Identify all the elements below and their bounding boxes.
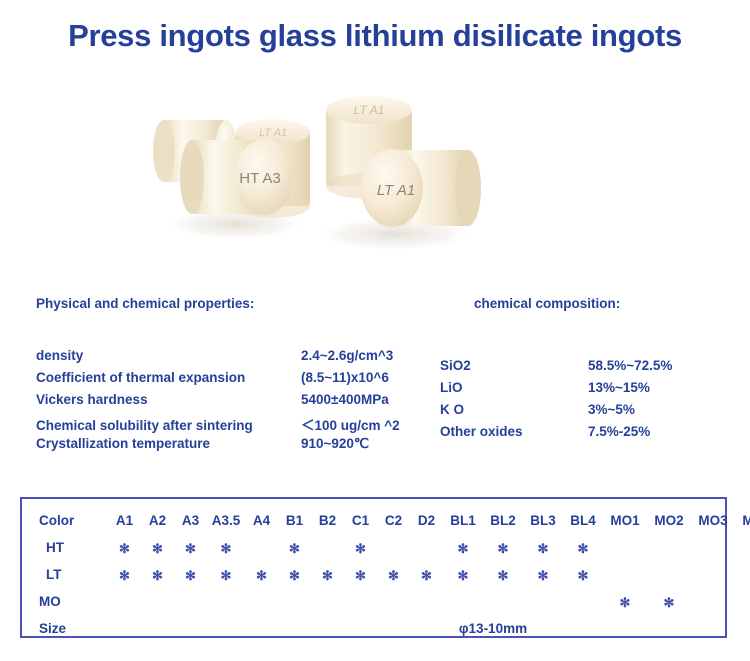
cell-mo-bl2 [483,588,523,615]
spec-label: SiO2 [440,358,588,373]
cell-mo-bl1 [443,588,483,615]
spec-label: Other oxides [440,424,588,439]
spec-row: SiO2 58.5%~72.5% [440,358,672,380]
table-header-row: ColorA1A2A3A3.5A4B1B2C1C2D2BL1BL2BL3BL4M… [22,507,750,534]
cell-mo-d2 [410,588,443,615]
cell-ht-d2 [410,534,443,561]
spec-label: Crystallization temperature [36,436,301,451]
cell-mo-a2 [141,588,174,615]
column-header-mo3: MO3 [691,507,735,534]
cell-ht-mo1 [603,534,647,561]
column-header-mo4: MO4 [735,507,750,534]
asterisk-mark-icon: ✻ [578,542,589,555]
cell-lt-a3: ✻ [174,561,207,588]
color-availability-table: ColorA1A2A3A3.5A4B1B2C1C2D2BL1BL2BL3BL4M… [20,497,727,638]
chemical-composition-block: chemical composition: SiO2 58.5%~72.5% L… [474,296,620,311]
spec-row: Vickers hardness 5400±400MPa [36,392,400,414]
column-header-a2: A2 [141,507,174,534]
asterisk-mark-icon: ✻ [578,569,589,582]
spec-value: 58.5%~72.5% [588,358,672,373]
cell-ht-c2 [377,534,410,561]
spec-value: 3%~5% [588,402,635,417]
cell-ht-b1: ✻ [278,534,311,561]
asterisk-mark-icon: ✻ [256,569,267,582]
ingot-label-lt-a1: LT A1 [377,182,415,199]
asterisk-mark-icon: ✻ [322,569,333,582]
color-grid: ColorA1A2A3A3.5A4B1B2C1C2D2BL1BL2BL3BL4M… [22,507,750,642]
table-row: HT✻✻✻✻✻✻✻✻✻✻ [22,534,750,561]
cell-ht-mo4 [735,534,750,561]
cell-ht-bl2: ✻ [483,534,523,561]
cell-lt-mo3 [691,561,735,588]
column-header-color: Color [22,507,108,534]
product-photo: LT A1 LT A1 HT A3 LT A1 [140,88,500,268]
column-header-mo1: MO1 [603,507,647,534]
cell-lt-mo2 [647,561,691,588]
ingot-label-ht-a3: HT A3 [239,170,280,187]
asterisk-mark-icon: ✻ [458,569,469,582]
column-header-a3-5: A3.5 [207,507,245,534]
spec-value: 7.5%-25% [588,424,650,439]
chemical-composition-heading: chemical composition: [474,296,620,311]
cell-mo-bl3 [523,588,563,615]
cell-mo-mo3 [691,588,735,615]
cell-ht-bl1: ✻ [443,534,483,561]
spec-value: ＜100 ug/cm ^2 [301,414,400,434]
cell-ht-c1: ✻ [344,534,377,561]
physical-properties-list: density 2.4~2.6g/cm^3 Coefficient of the… [36,348,400,458]
table-row-size: Sizeφ13-10mm [22,615,750,642]
asterisk-mark-icon: ✻ [221,569,232,582]
cell-ht-bl4: ✻ [563,534,603,561]
cell-mo-a1 [108,588,141,615]
cell-mo-c1 [344,588,377,615]
spec-row: Chemical solubility after sintering ＜100… [36,414,400,436]
cell-mo-a3-5 [207,588,245,615]
cell-ht-b2 [311,534,344,561]
spec-row: LiO 13%~15% [440,380,672,402]
spec-row: K O 3%~5% [440,402,672,424]
physical-properties-heading: Physical and chemical properties: [36,296,254,311]
asterisk-mark-icon: ✻ [152,569,163,582]
cell-lt-bl2: ✻ [483,561,523,588]
spec-label: LiO [440,380,588,395]
cell-ht-a3-5: ✻ [207,534,245,561]
asterisk-mark-icon: ✻ [185,542,196,555]
cell-ht-a1: ✻ [108,534,141,561]
asterisk-mark-icon: ✻ [664,596,675,609]
cell-ht-mo3 [691,534,735,561]
column-header-a4: A4 [245,507,278,534]
spec-label: Vickers hardness [36,392,301,407]
cell-lt-b1: ✻ [278,561,311,588]
specifications-section: Physical and chemical properties: densit… [0,296,750,481]
cell-lt-bl3: ✻ [523,561,563,588]
spec-label: density [36,348,301,363]
spec-value: 5400±400MPa [301,392,389,407]
cell-mo-c2 [377,588,410,615]
asterisk-mark-icon: ✻ [289,569,300,582]
cell-lt-d2: ✻ [410,561,443,588]
asterisk-mark-icon: ✻ [458,542,469,555]
spec-row: Crystallization temperature 910~920℃ [36,436,400,458]
cell-lt-mo4 [735,561,750,588]
cell-mo-mo2: ✻ [647,588,691,615]
asterisk-mark-icon: ✻ [221,542,232,555]
asterisk-mark-icon: ✻ [538,542,549,555]
cell-mo-mo4 [735,588,750,615]
column-header-a1: A1 [108,507,141,534]
cell-ht-bl3: ✻ [523,534,563,561]
physical-properties-block: Physical and chemical properties: densit… [36,296,254,311]
column-header-bl4: BL4 [563,507,603,534]
asterisk-mark-icon: ✻ [289,542,300,555]
spec-label: Chemical solubility after sintering [36,418,301,433]
cell-mo-b1 [278,588,311,615]
asterisk-mark-icon: ✻ [152,542,163,555]
spec-row: Coefficient of thermal expansion (8.5~11… [36,370,400,392]
cell-lt-c1: ✻ [344,561,377,588]
size-value: φ13-10mm [207,615,750,642]
cell-lt-bl1: ✻ [443,561,483,588]
cell-lt-mo1 [603,561,647,588]
cell-lt-bl4: ✻ [563,561,603,588]
column-header-bl2: BL2 [483,507,523,534]
column-header-d2: D2 [410,507,443,534]
chemical-composition-list: SiO2 58.5%~72.5% LiO 13%~15% K O 3%~5% O… [440,358,672,446]
asterisk-mark-icon: ✻ [119,569,130,582]
column-header-mo2: MO2 [647,507,691,534]
cell-ht-a3: ✻ [174,534,207,561]
cell-mo-mo1: ✻ [603,588,647,615]
row-label-ht: HT [22,534,108,561]
cell-lt-a4: ✻ [245,561,278,588]
spec-label: Coefficient of thermal expansion [36,370,301,385]
cell-lt-a1: ✻ [108,561,141,588]
spec-label: K O [440,402,588,417]
asterisk-mark-icon: ✻ [538,569,549,582]
row-label-lt: LT [22,561,108,588]
asterisk-mark-icon: ✻ [498,542,509,555]
size-spacer [108,615,207,642]
svg-text:LT A1: LT A1 [354,103,385,117]
column-header-bl3: BL3 [523,507,563,534]
spec-value: 2.4~2.6g/cm^3 [301,348,393,363]
cell-ht-a4 [245,534,278,561]
spec-row: Other oxides 7.5%-25% [440,424,672,446]
asterisk-mark-icon: ✻ [355,542,366,555]
column-header-c2: C2 [377,507,410,534]
cell-ht-a2: ✻ [141,534,174,561]
cell-lt-a2: ✻ [141,561,174,588]
asterisk-mark-icon: ✻ [185,569,196,582]
ingots-illustration: LT A1 LT A1 HT A3 LT A1 [140,88,500,268]
asterisk-mark-icon: ✻ [498,569,509,582]
cell-mo-bl4 [563,588,603,615]
spec-value: 13%~15% [588,380,650,395]
cell-ht-mo2 [647,534,691,561]
column-header-b2: B2 [311,507,344,534]
cell-lt-c2: ✻ [377,561,410,588]
cell-lt-b2: ✻ [311,561,344,588]
ingot-front-right: LT A1 [361,149,481,227]
table-row: MO✻✻ [22,588,750,615]
asterisk-mark-icon: ✻ [388,569,399,582]
column-header-b1: B1 [278,507,311,534]
spec-row: density 2.4~2.6g/cm^3 [36,348,400,370]
spec-value: (8.5~11)x10^6 [301,370,389,385]
row-label-mo: MO [22,588,108,615]
cell-mo-a3 [174,588,207,615]
row-label-size: Size [22,615,108,642]
column-header-bl1: BL1 [443,507,483,534]
asterisk-mark-icon: ✻ [355,569,366,582]
cell-lt-a3-5: ✻ [207,561,245,588]
svg-text:LT A1: LT A1 [259,127,287,139]
asterisk-mark-icon: ✻ [620,596,631,609]
table-row: LT✻✻✻✻✻✻✻✻✻✻✻✻✻✻ [22,561,750,588]
cell-mo-b2 [311,588,344,615]
asterisk-mark-icon: ✻ [119,542,130,555]
column-header-a3: A3 [174,507,207,534]
ingot-front-left: HT A3 [180,139,293,215]
column-header-c1: C1 [344,507,377,534]
cell-mo-a4 [245,588,278,615]
page-title: Press ingots glass lithium disilicate in… [0,18,750,54]
spec-value: 910~920℃ [301,436,369,452]
asterisk-mark-icon: ✻ [421,569,432,582]
